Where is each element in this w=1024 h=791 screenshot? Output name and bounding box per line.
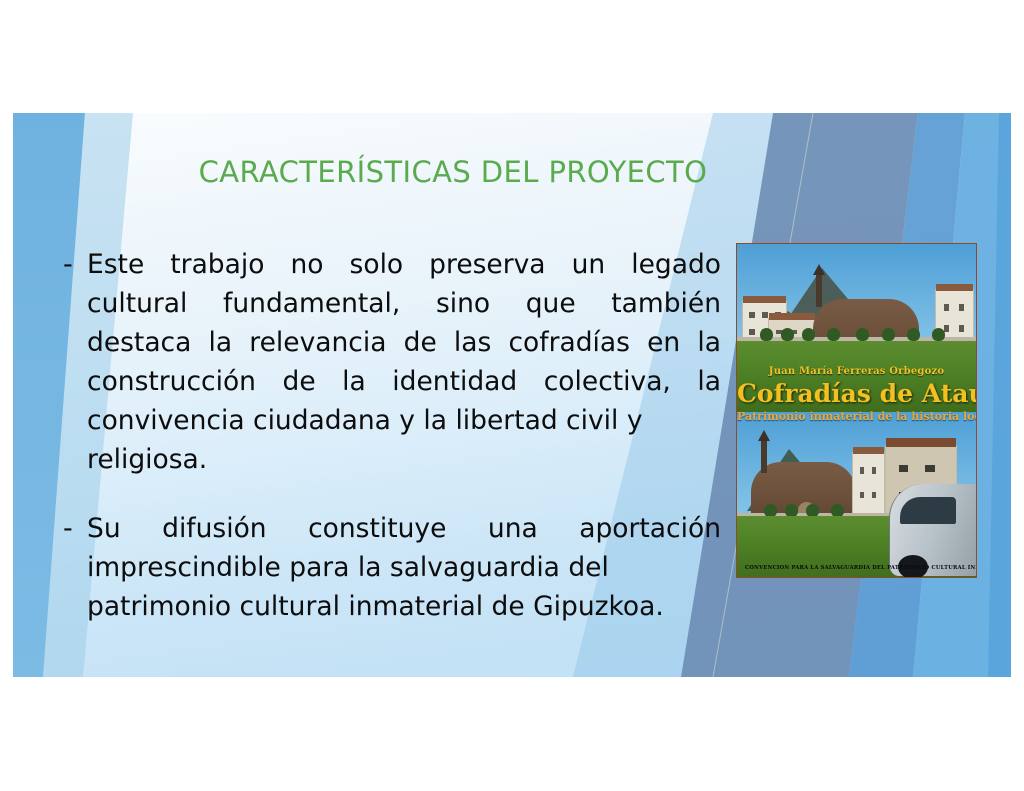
slide-root: CARACTERÍSTICAS DEL PROYECTO - Este trab… <box>0 0 1024 791</box>
page-title: CARACTERÍSTICAS DEL PROYECTO <box>123 155 783 189</box>
presentation-slide: CARACTERÍSTICAS DEL PROYECTO - Este trab… <box>13 113 1011 677</box>
bullet-text-body: Su difusión constituye una aportación im… <box>87 513 721 583</box>
cover-footer-text: CONVENCION PARA LA SALVAGUARDIA DEL PATR… <box>745 565 977 571</box>
roof <box>853 447 884 454</box>
van-vehicle <box>889 484 976 576</box>
cover-subtitle: Patrimonio inmaterial de la historia loc… <box>737 410 976 423</box>
bullet-marker: - <box>49 509 87 548</box>
roof <box>769 313 815 320</box>
bullet-text-lastline: patrimonio cultural inmaterial de Gipuzk… <box>87 587 721 626</box>
cover-author: Juan María Ferreras Orbegozo <box>737 366 976 377</box>
bullet-text-body: Este trabajo no solo preserva un legado … <box>87 249 721 436</box>
roof <box>936 284 972 291</box>
bullet-text: Su difusión constituye una aportación im… <box>87 509 721 626</box>
cover-title: Cofradías de Ataun <box>737 379 976 408</box>
bullet-text-lastline: religiosa. <box>87 440 721 479</box>
church-tower <box>761 439 767 473</box>
book-cover-image: Juan María Ferreras Orbegozo Cofradías d… <box>736 243 977 578</box>
bullet-marker: - <box>49 245 87 284</box>
roof <box>886 438 956 447</box>
bullet-text: Este trabajo no solo preserva un legado … <box>87 245 721 479</box>
bullet-list: - Este trabajo no solo preserva un legad… <box>49 245 721 626</box>
list-item: - Su difusión constituye una aportación … <box>49 509 721 626</box>
van-window <box>900 497 956 525</box>
hedge-row <box>751 330 961 341</box>
roof <box>743 296 786 303</box>
cover-photo-bottom <box>737 412 976 578</box>
list-item: - Este trabajo no solo preserva un legad… <box>49 245 721 479</box>
church-tower <box>816 273 822 307</box>
